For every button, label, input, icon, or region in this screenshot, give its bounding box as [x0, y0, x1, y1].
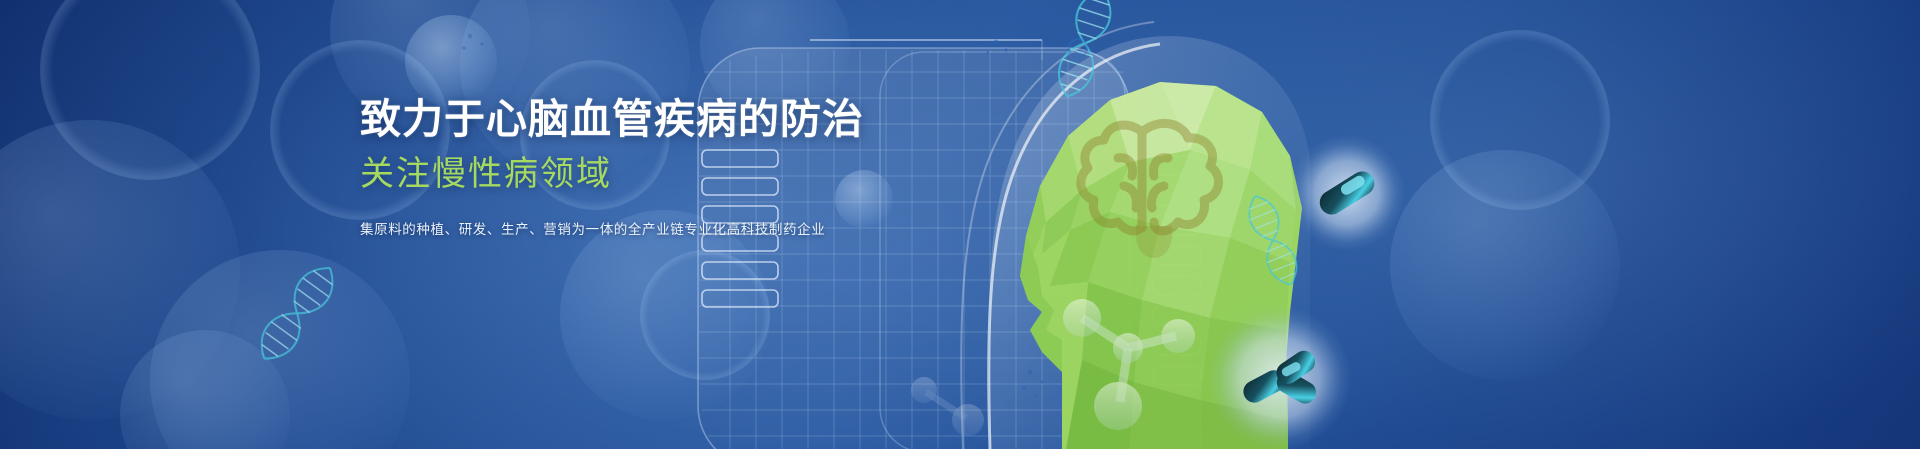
polygonal-head [1020, 82, 1302, 449]
bokeh-circle [1390, 150, 1620, 380]
molecule-icon [1063, 299, 1195, 430]
bokeh-circle [40, 0, 260, 180]
bokeh-circle [1430, 30, 1610, 210]
brain-stem [1136, 226, 1173, 258]
microbe-dot [986, 39, 1087, 61]
bokeh-layer [0, 0, 1920, 449]
bokeh-circle [560, 210, 770, 420]
dna-helix-icon [1052, 0, 1118, 102]
microbe-dot [1022, 370, 1044, 398]
pill-rows-right [1153, 126, 1201, 385]
bokeh-circle [150, 250, 410, 449]
cell-icon [1208, 306, 1352, 449]
microbe-dot [462, 34, 484, 50]
headline-lead: 致力于 [360, 96, 486, 142]
dna-helix-icon [1242, 191, 1303, 290]
page-subtitle: 关注慢性病领域 [360, 154, 830, 195]
dna-helix-icon [251, 258, 344, 368]
hero-copy: 致力于心脑血管疾病的防治 关注慢性病领域 集原料的种植、研发、生产、营销为一体的… [360, 96, 830, 238]
science-artwork [690, 0, 1920, 449]
tech-panel-secondary [880, 52, 1125, 449]
head-glow-outline [961, 22, 1310, 449]
brain-icon [1081, 123, 1219, 231]
page-tagline: 集原料的种植、研发、生产、营销为一体的全产业链专业化高科技制药企业 [360, 218, 830, 238]
page-title: 致力于心脑血管疾病的防治 [360, 96, 830, 144]
cell-icon [1289, 135, 1405, 251]
bokeh-circle [120, 330, 290, 449]
headline-emphasis: 心脑血管疾病 [486, 96, 738, 142]
molecule-icon [911, 377, 984, 436]
bokeh-circle [835, 170, 893, 228]
hero-banner: 致力于心脑血管疾病的防治 关注慢性病领域 集原料的种植、研发、生产、营销为一体的… [0, 0, 1920, 449]
left-dna-layer [0, 0, 1920, 449]
headline-tail: 的防治 [738, 96, 864, 142]
bokeh-circle [405, 15, 497, 107]
bokeh-circle [640, 250, 770, 380]
bokeh-circle [0, 120, 240, 420]
